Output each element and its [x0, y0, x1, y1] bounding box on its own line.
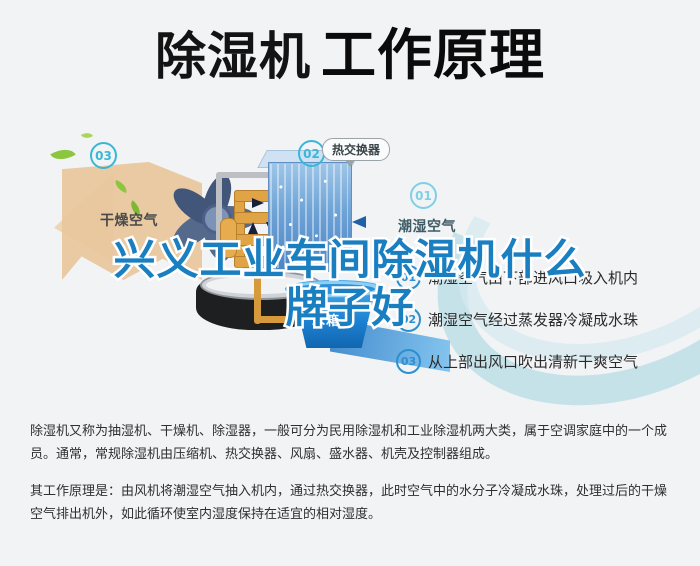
drain-pipe: [254, 260, 261, 324]
water-tank-label: 水箱: [312, 310, 340, 329]
intake-arrow-icon: [352, 216, 366, 228]
label-dry-air: 干燥空气: [100, 210, 158, 230]
title-segment-principle: 工作原理: [321, 23, 545, 87]
step-text: 潮湿空气经过蒸发器冷凝成水珠: [428, 309, 638, 330]
drain-pipe-elbow: [254, 316, 288, 323]
step-text: 潮湿空气由下部进风口吸入机内: [428, 267, 638, 288]
water-tank-water: [293, 284, 375, 294]
badge-humid-air: 01: [410, 182, 437, 209]
leaf-icon: [81, 130, 93, 141]
step-text: 从上部出风口吹出清新干爽空气: [428, 351, 638, 372]
page-title: 除湿机工作原理: [0, 28, 700, 83]
step-number: 02: [396, 307, 421, 332]
heat-exchanger-callout: 热交换器: [322, 138, 390, 161]
body-text: 除湿机又称为抽湿机、干燥机、除湿器，一般可分为民用除湿机和工业除湿机两大类，属于…: [30, 420, 676, 526]
flow-arrow-up-icon: [248, 222, 258, 234]
label-humid-air: 潮湿空气: [398, 216, 456, 236]
leaf-icon: [50, 143, 76, 165]
step-number: 03: [396, 349, 421, 374]
condensation-droplets: [272, 170, 346, 264]
title-segment-product: 除湿机: [155, 28, 311, 87]
body-paragraph-1: 除湿机又称为抽湿机、干燥机、除湿器，一般可分为民用除湿机和工业除湿机两大类，属于…: [30, 420, 676, 466]
step-item: 03 从上部出风口吹出清新干爽空气: [396, 349, 696, 374]
badge-dry-air: 03: [90, 142, 117, 169]
poster-root: 除湿机工作原理: [0, 0, 700, 566]
step-list: 01 潮湿空气由下部进风口吸入机内 02 潮湿空气经过蒸发器冷凝成水珠 03 从…: [396, 265, 696, 391]
badge-heat-exchanger: 02: [298, 140, 325, 167]
body-paragraph-2: 其工作原理是：由风机将潮湿空气抽入机内，通过热交换器，此时空气中的水分子冷凝成水…: [30, 480, 676, 526]
step-item: 02 潮湿空气经过蒸发器冷凝成水珠: [396, 307, 696, 332]
pipe-horizontal: [216, 172, 272, 178]
flow-arrow-right-icon: [252, 198, 264, 208]
step-number: 01: [396, 265, 421, 290]
step-item: 01 潮湿空气由下部进风口吸入机内: [396, 265, 696, 290]
refrigerant-cylinder: [220, 218, 237, 258]
